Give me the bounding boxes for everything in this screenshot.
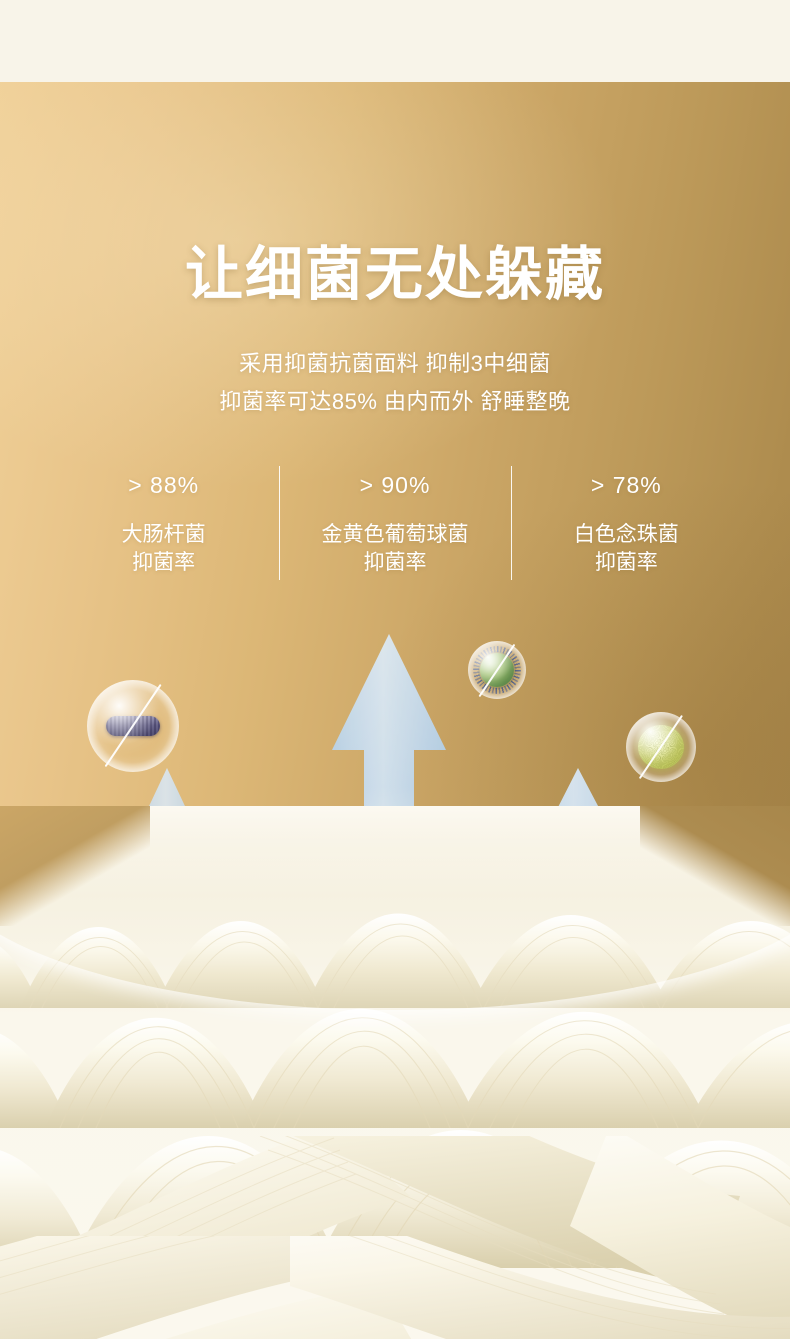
stat-item-ecoli: > 88% 大肠杆菌 抑菌率 <box>48 462 279 588</box>
fuzzy-yeast-bubble-icon <box>626 712 696 782</box>
stat-item-candida: > 78% 白色念珠菌 抑菌率 <box>511 462 742 588</box>
top-cream-band <box>0 0 790 82</box>
stat-label: 金黄色葡萄球菌 <box>279 521 510 549</box>
subtitle-line-1: 采用抑菌抗菌面料 抑制3中细菌 <box>0 346 790 378</box>
stat-label: 大肠杆菌 <box>48 521 279 549</box>
stat-item-staph: > 90% 金黄色葡萄球菌 抑菌率 <box>279 462 510 588</box>
page-title: 让细菌无处躲藏 <box>0 244 790 305</box>
stat-value: > 78% <box>511 472 742 499</box>
stat-label: 白色念珠菌 <box>511 521 742 549</box>
spiky-coccus-bubble-icon <box>468 641 526 699</box>
antibacterial-stats: > 88% 大肠杆菌 抑菌率 > 90% 金黄色葡萄球菌 抑菌率 > 78% 白… <box>48 462 742 588</box>
stat-value: > 90% <box>279 472 510 499</box>
product-detail-page: 让细菌无处躲藏 采用抑菌抗菌面料 抑制3中细菌 抑菌率可达85% 由内而外 舒睡… <box>0 0 790 1339</box>
stat-unit: 抑菌率 <box>511 549 742 577</box>
stat-unit: 抑菌率 <box>48 549 279 577</box>
fabric-braid-layer <box>0 1236 790 1339</box>
stat-unit: 抑菌率 <box>279 549 510 577</box>
fabric-texture-photo <box>0 806 790 1339</box>
rod-bacterium-bubble-icon <box>87 680 179 772</box>
stat-value: > 88% <box>48 472 279 499</box>
subtitle-line-2: 抑菌率可达85% 由内而外 舒睡整晚 <box>0 384 790 416</box>
